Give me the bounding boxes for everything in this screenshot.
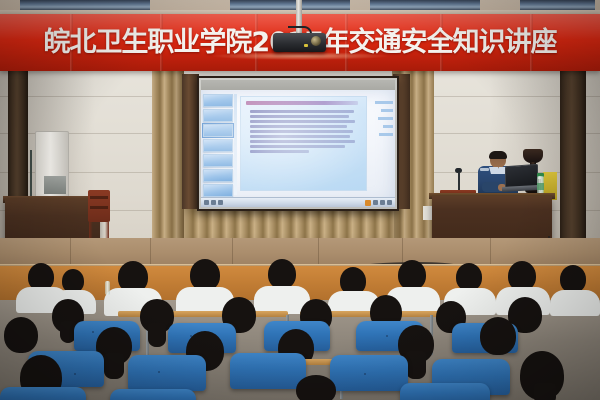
side-marker (378, 117, 393, 120)
slide-thumbnail[interactable] (203, 184, 233, 197)
start-icon[interactable] (204, 200, 209, 205)
slide-body-text (250, 110, 358, 182)
seat-mark (74, 373, 76, 375)
slide-text-line (250, 115, 349, 118)
tray-icon[interactable] (373, 200, 378, 205)
side-marker (383, 125, 393, 128)
slide-text-line (250, 110, 354, 113)
screen-surface (199, 78, 397, 209)
auditorium-seat[interactable] (230, 353, 306, 389)
ponytail (104, 353, 124, 379)
slide-text-line (250, 130, 353, 133)
chair-slat (90, 196, 108, 199)
auditorium-seat[interactable] (330, 355, 408, 391)
audience-area (0, 255, 600, 400)
slide-thumbnail[interactable] (203, 94, 233, 107)
seat-mark (386, 335, 388, 337)
vase-bowl (523, 149, 543, 163)
ponytail (406, 351, 426, 379)
tray-icon[interactable] (380, 200, 385, 205)
seat-mark (158, 371, 160, 373)
active-slide (240, 96, 367, 191)
auditorium-seat[interactable] (128, 355, 206, 391)
slide-thumbnail-panel[interactable] (203, 92, 233, 198)
slide-thumbnail[interactable] (203, 124, 233, 137)
audience-head (296, 375, 336, 400)
windows-taskbar[interactable] (201, 197, 395, 207)
side-marker (375, 101, 393, 104)
audience-shoulders (550, 290, 600, 316)
slide-text-line (250, 140, 355, 143)
audience-head (268, 259, 296, 289)
auditorium-seat[interactable] (400, 383, 490, 400)
curtain-left (152, 62, 184, 260)
slide-text-line (250, 125, 347, 128)
water-dispenser-panel (44, 176, 66, 194)
slide-side-markers (369, 98, 393, 191)
uniform-epaulet-left (480, 168, 489, 171)
side-marker (379, 133, 393, 136)
ponytail (534, 383, 556, 400)
tray-icon[interactable] (387, 200, 392, 205)
projector-lens-icon (311, 36, 321, 46)
slide-thumbnail[interactable] (203, 109, 233, 122)
audience-head (480, 317, 516, 355)
seat-mark (364, 373, 366, 375)
laptop[interactable] (502, 165, 536, 193)
slide-text-line (250, 145, 345, 148)
auditorium-seat[interactable] (110, 389, 196, 400)
taskbar-app-icon[interactable] (211, 200, 216, 205)
taskbar-active-app-icon[interactable] (365, 200, 371, 206)
side-marker (381, 109, 393, 112)
banner-light-reflection (210, 52, 390, 60)
ponytail (148, 323, 166, 347)
slide-text-line (250, 135, 350, 138)
projected-powerpoint (201, 90, 395, 207)
laptop-keyboard[interactable] (502, 185, 538, 192)
taskbar-app-icon[interactable] (218, 200, 223, 205)
projection-screen (197, 76, 399, 211)
slide-text-line (250, 150, 309, 153)
projector-status-led-icon (304, 44, 308, 47)
audience-head (4, 317, 38, 353)
thumbnail-scrollbar[interactable] (234, 94, 237, 195)
auditorium-seat[interactable] (0, 387, 86, 400)
slide-thumbnail[interactable] (203, 169, 233, 182)
presenter-hair (489, 151, 507, 159)
slide-thumbnail[interactable] (203, 154, 233, 167)
chair-backrest (88, 190, 110, 222)
seat-mark (92, 331, 94, 333)
slide-title-text (246, 101, 358, 105)
slide-thumbnail[interactable] (203, 139, 233, 152)
audience-head (456, 263, 482, 291)
water-bottle-label (537, 183, 544, 190)
audience-head (398, 260, 426, 290)
student-water-bottle (105, 281, 110, 295)
slide-text-line (250, 120, 355, 123)
screen-top-strip (201, 80, 395, 90)
chair-slat (90, 206, 108, 209)
door-right[interactable] (560, 66, 586, 256)
audience-head (560, 265, 586, 293)
lecture-hall-photo: 皖北卫生职业学院2017年交通安全知识讲座 (0, 0, 600, 400)
